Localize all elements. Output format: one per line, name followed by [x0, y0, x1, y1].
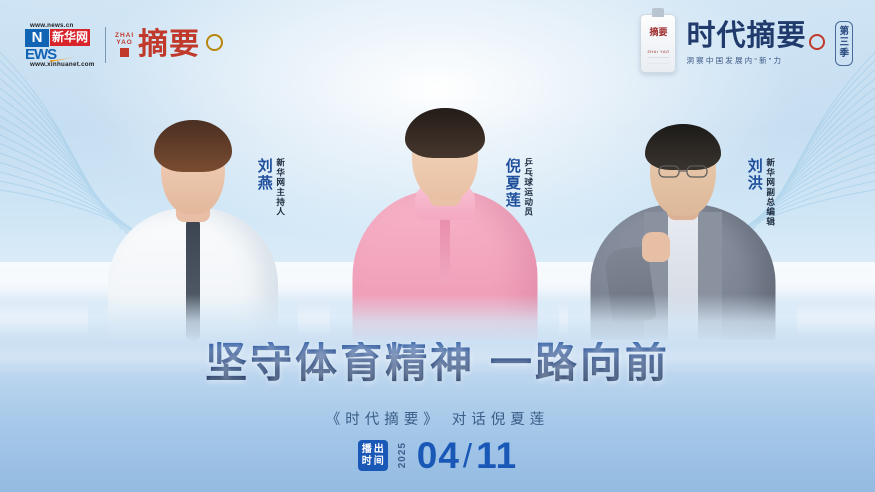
show-ring-icon	[809, 34, 825, 50]
bottle-icon: 摘要 ZHAI YAO	[640, 14, 676, 73]
airtime-badge: 播 出 时 间	[358, 440, 388, 471]
xinhua-letter-n: N	[25, 29, 49, 47]
guest-2-glasses-icon	[658, 165, 708, 178]
xinhua-logo[interactable]: www.news.cn N EWS 新华网 www.xinhuanet.com …	[24, 22, 223, 68]
season-char-2: 季	[839, 49, 849, 60]
guest-name-1: 倪夏莲	[504, 158, 520, 209]
broadcast-poster: www.news.cn N EWS 新华网 www.xinhuanet.com …	[0, 0, 875, 492]
season-badge[interactable]: 第 三 季	[835, 21, 853, 66]
xinhua-name-cn: 新华网	[50, 29, 90, 46]
bottle-line-2	[647, 63, 669, 64]
xinhua-url-bottom: www.xinhuanet.com	[30, 61, 95, 68]
show-wordmark: 时代摘要 洞察中国发展内“新”力	[686, 21, 825, 65]
show-title: 时代摘要	[686, 21, 806, 51]
zhaiyao-pinyin: ZHAI YAO	[115, 33, 134, 58]
show-subtitle: 洞察中国发展内“新”力	[686, 55, 783, 66]
show-logo[interactable]: 摘要 ZHAI YAO 时代摘要 洞察中国发展内“新”力 第 三 季	[640, 14, 853, 73]
bottle-label: 摘要	[641, 28, 675, 37]
zhaiyao-pinyin-line2: YAO	[116, 40, 133, 47]
zhaiyao-seal-icon	[120, 48, 129, 57]
bottle-line-1	[647, 57, 669, 58]
airtime-badge-char-2: 时	[362, 456, 372, 467]
bottle-sublabel: ZHAI YAO	[641, 49, 675, 54]
airtime-date: 04 / 11	[417, 437, 517, 474]
guest-name-2: 刘洪	[746, 158, 762, 192]
guest-2-hair	[645, 124, 721, 170]
zhaiyao-ring-icon	[206, 34, 223, 51]
xinhua-url-top: www.news.cn	[30, 22, 74, 29]
airtime-year: 2025	[397, 442, 408, 468]
guest-role-2: 新华网副总编辑	[765, 158, 775, 227]
guest-0-fade	[88, 294, 299, 340]
guest-role-0: 新华网主持人	[275, 158, 285, 217]
zhaiyao-logo: ZHAI YAO 摘要	[115, 30, 223, 60]
airtime-day: 11	[476, 437, 517, 474]
show-title-row: 时代摘要	[686, 21, 825, 51]
guest-role-1: 乒乓球运动员	[523, 158, 533, 217]
guest-name-tag-1: 倪夏莲 乒乓球运动员	[504, 158, 533, 217]
logo-divider	[105, 27, 106, 63]
guest-name-0: 刘燕	[256, 158, 272, 192]
guest-name-tag-0: 刘燕 新华网主持人	[256, 158, 285, 217]
airtime-month: 04	[417, 437, 460, 474]
airtime-badge-char-0: 播	[362, 444, 372, 455]
guest-0-hair	[154, 120, 232, 172]
airtime-badge-char-1: 出	[374, 444, 384, 455]
guest-photo-0	[108, 95, 278, 340]
guest-2-hand	[642, 232, 670, 262]
airtime-block: 播 出 时 间 2025 04 / 11	[0, 437, 875, 474]
airtime-separator: /	[463, 439, 473, 472]
bottle-cap-icon	[652, 8, 664, 17]
airtime-badge-char-3: 间	[374, 456, 384, 467]
guest-2-fade	[568, 294, 797, 340]
zhaiyao-title: 摘要	[138, 30, 200, 60]
guest-name-tag-2: 刘洪 新华网副总编辑	[746, 158, 775, 227]
subline: 《时代摘要》 对话倪夏莲	[0, 408, 875, 429]
xinhua-mark-icon: www.news.cn N EWS 新华网 www.xinhuanet.com	[24, 22, 96, 68]
xinhua-swoosh-icon	[50, 48, 95, 62]
guest-1-fade	[330, 294, 559, 340]
guest-1-hair	[405, 108, 485, 158]
headline: 坚守体育精神 一路向前	[0, 342, 875, 384]
